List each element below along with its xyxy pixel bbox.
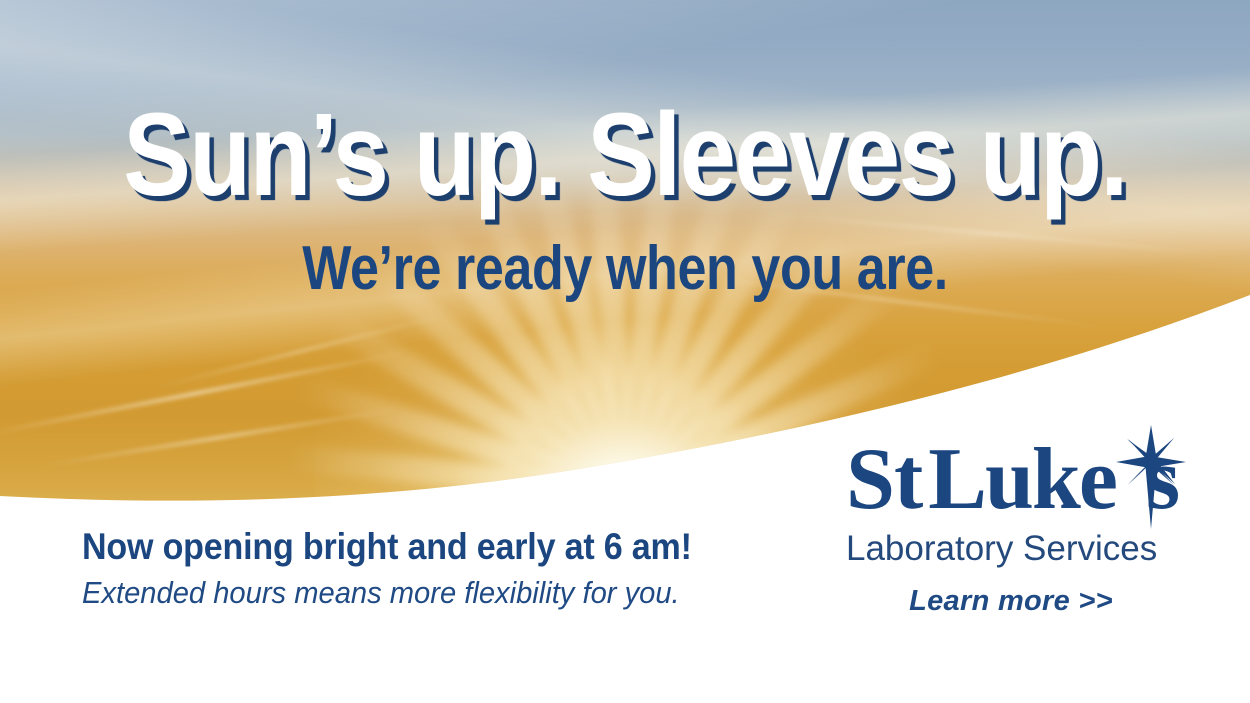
brand-wordmark-possessive: s xyxy=(1146,431,1178,528)
promo-block: Now opening bright and early at 6 am! Ex… xyxy=(82,528,842,610)
promo-subtitle: Extended hours means more flexibility fo… xyxy=(82,576,796,610)
learn-more-link[interactable]: Learn more >> xyxy=(846,585,1176,618)
brand-wordmark-st: St xyxy=(846,431,922,528)
promo-title: Now opening bright and early at 6 am! xyxy=(82,528,781,567)
brand-star-slot xyxy=(1116,507,1146,508)
brand-wordmark-luke: Luke xyxy=(928,431,1116,528)
brand-wordmark: StLuke s xyxy=(846,432,1206,528)
subheadline: We’re ready when you are. xyxy=(100,238,1150,300)
headline: Sun’s up. Sleeves up. xyxy=(88,96,1163,214)
brand-logo-lockup[interactable]: StLuke s Laboratory Services xyxy=(846,432,1206,618)
advertisement-banner: Sun’s up. Sleeves up. We’re ready when y… xyxy=(0,0,1250,703)
brand-tagline: Laboratory Services xyxy=(846,530,1206,569)
sun-glow xyxy=(315,282,935,560)
